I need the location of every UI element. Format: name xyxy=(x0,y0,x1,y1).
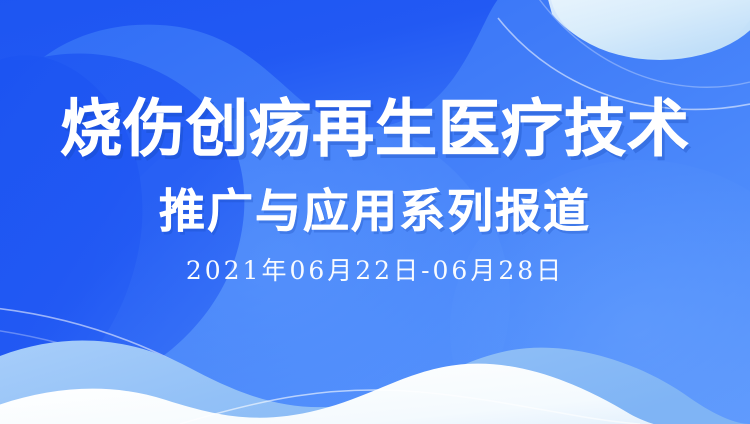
banner-subtitle: 推广与应用系列报道 xyxy=(159,188,591,234)
banner-content: 烧伤创疡再生医疗技术 推广与应用系列报道 2021年06月22日-06月28日 xyxy=(0,0,750,424)
banner-date-range: 2021年06月22日-06月28日 xyxy=(186,258,564,283)
banner-title: 烧伤创疡再生医疗技术 xyxy=(60,98,690,160)
promo-banner: 烧伤创疡再生医疗技术 推广与应用系列报道 2021年06月22日-06月28日 xyxy=(0,0,750,424)
